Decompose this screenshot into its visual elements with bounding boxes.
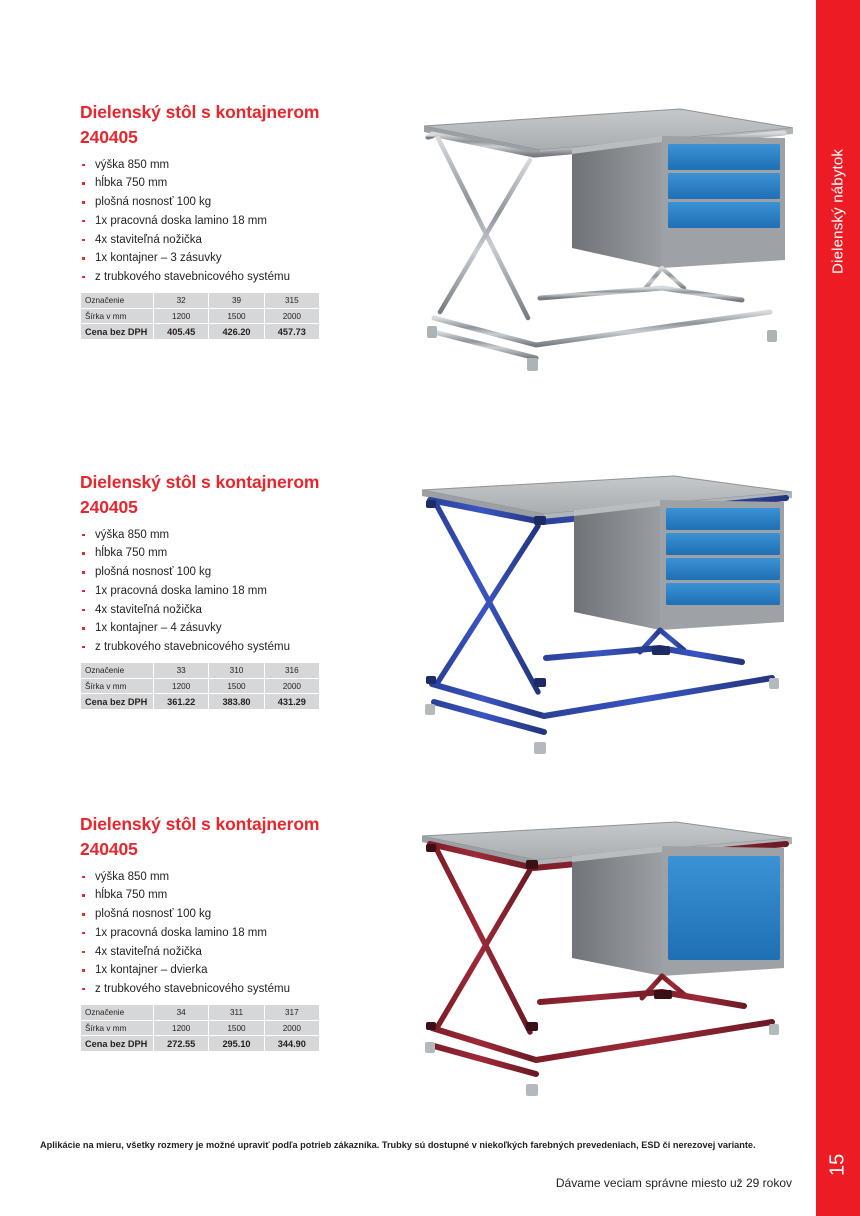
product-title-text-1: Dielenský stôl s kontajnerom [80, 102, 319, 122]
cell-width: 2000 [265, 679, 319, 694]
bullet-dot-icon [82, 257, 85, 260]
catalog-page: Dielenský nábytok 15 Dielenský stôl s ko… [0, 0, 860, 1216]
product-title-text-2: Dielenský stôl s kontajnerom [80, 472, 319, 492]
table-row: Šírka v mm 1200 1500 2000 [81, 1021, 319, 1036]
cell-width: 1500 [209, 309, 263, 324]
feature-text: výška 850 mm [95, 529, 169, 541]
cell-price: 426.20 [209, 324, 263, 339]
product-info-1: Dielenský stôl s kontajnerom 240405 výšk… [80, 100, 410, 340]
feature-item: 4x staviteľná nožička [80, 947, 410, 959]
bullet-dot-icon [82, 627, 85, 630]
bullet-dot-icon [82, 571, 85, 574]
bullet-dot-icon [82, 534, 85, 537]
feature-text: z trubkového stavebnicového systému [95, 641, 290, 653]
bullet-dot-icon [82, 220, 85, 223]
feature-text: z trubkového stavebnicového systému [95, 983, 290, 995]
table-row: Označenie 33 310 316 [81, 663, 319, 678]
bullet-dot-icon [82, 646, 85, 649]
table-row: Cena bez DPH 405.45 426.20 457.73 [81, 324, 319, 339]
product-title-2: Dielenský stôl s kontajnerom 240405 [80, 470, 410, 521]
table-row: Označenie 32 39 315 [81, 293, 319, 308]
row-header-price: Cena bez DPH [81, 1036, 153, 1051]
table-row: Cena bez DPH 361.22 383.80 431.29 [81, 694, 319, 709]
bullet-dot-icon [82, 894, 85, 897]
feature-text: 4x staviteľná nožička [95, 234, 202, 246]
bullet-dot-icon [82, 932, 85, 935]
product-info-3: Dielenský stôl s kontajnerom 240405 výšk… [80, 812, 410, 1052]
cell-designation: 310 [209, 663, 263, 678]
page-number: 15 [816, 1140, 860, 1190]
cell-designation: 33 [154, 663, 208, 678]
product-info-2: Dielenský stôl s kontajnerom 240405 výšk… [80, 470, 410, 710]
cell-designation: 316 [265, 663, 319, 678]
feature-text: 1x kontajner – 4 zásuvky [95, 622, 222, 634]
feature-text: z trubkového stavebnicového systému [95, 271, 290, 283]
feature-item: 4x staviteľná nožička [80, 235, 410, 247]
feature-text: 1x pracovná doska lamino 18 mm [95, 927, 267, 939]
feature-item: 1x pracovná doska lamino 18 mm [80, 216, 410, 228]
product-features-2: výška 850 mm hĺbka 750 mm plošná nosnosť… [80, 530, 410, 654]
feature-text: 4x staviteľná nožička [95, 946, 202, 958]
feature-text: plošná nosnosť 100 kg [95, 566, 211, 578]
cell-width: 1500 [209, 679, 263, 694]
cell-designation: 315 [265, 293, 319, 308]
cell-price: 405.45 [154, 324, 208, 339]
footer-note: Aplikácie na mieru, všetky rozmery je mo… [40, 1140, 802, 1152]
bullet-dot-icon [82, 876, 85, 879]
product-title-1: Dielenský stôl s kontajnerom 240405 [80, 100, 410, 151]
cell-price: 272.55 [154, 1036, 208, 1051]
feature-item: 1x pracovná doska lamino 18 mm [80, 928, 410, 940]
table-row: Cena bez DPH 272.55 295.10 344.90 [81, 1036, 319, 1051]
bullet-dot-icon [82, 201, 85, 204]
feature-text: výška 850 mm [95, 159, 169, 171]
cell-designation: 39 [209, 293, 263, 308]
product-photo-3 [412, 812, 802, 1102]
feature-text: 1x pracovná doska lamino 18 mm [95, 585, 267, 597]
section-tab-label: Dielenský nábytok [816, 96, 860, 326]
bullet-dot-icon [82, 552, 85, 555]
feature-item: 1x kontajner – dvierka [80, 965, 410, 977]
feature-text: výška 850 mm [95, 871, 169, 883]
feature-text: plošná nosnosť 100 kg [95, 196, 211, 208]
spec-table-2: Označenie 33 310 316 Šírka v mm 1200 150… [80, 662, 320, 710]
feature-text: 1x kontajner – dvierka [95, 964, 208, 976]
feature-text: 4x staviteľná nožička [95, 604, 202, 616]
bullet-dot-icon [82, 164, 85, 167]
feature-item: plošná nosnosť 100 kg [80, 567, 410, 579]
bullet-dot-icon [82, 239, 85, 242]
row-header-price: Cena bez DPH [81, 694, 153, 709]
product-code-3: 240405 [80, 837, 410, 862]
table-row: Šírka v mm 1200 1500 2000 [81, 309, 319, 324]
product-features-3: výška 850 mm hĺbka 750 mm plošná nosnosť… [80, 872, 410, 996]
feature-item: výška 850 mm [80, 872, 410, 884]
product-title-text-3: Dielenský stôl s kontajnerom [80, 814, 319, 834]
feature-text: hĺbka 750 mm [95, 889, 167, 901]
feature-text: hĺbka 750 mm [95, 177, 167, 189]
product-block-2: Dielenský stôl s kontajnerom 240405 výšk… [0, 470, 816, 760]
row-header-designation: Označenie [81, 663, 153, 678]
feature-item: 1x kontajner – 4 zásuvky [80, 623, 410, 635]
cell-width: 2000 [265, 1021, 319, 1036]
feature-text: hĺbka 750 mm [95, 547, 167, 559]
bullet-dot-icon [82, 913, 85, 916]
cell-width: 2000 [265, 309, 319, 324]
cell-width: 1200 [154, 1021, 208, 1036]
cell-width: 1500 [209, 1021, 263, 1036]
row-header-width: Šírka v mm [81, 1021, 153, 1036]
row-header-width: Šírka v mm [81, 679, 153, 694]
table-row: Označenie 34 311 317 [81, 1005, 319, 1020]
row-header-designation: Označenie [81, 1005, 153, 1020]
cell-price: 361.22 [154, 694, 208, 709]
feature-item: 1x pracovná doska lamino 18 mm [80, 586, 410, 598]
product-code-2: 240405 [80, 495, 410, 520]
cell-price: 431.29 [265, 694, 319, 709]
product-photo-1 [412, 100, 802, 390]
feature-item: hĺbka 750 mm [80, 890, 410, 902]
cell-designation: 34 [154, 1005, 208, 1020]
product-title-3: Dielenský stôl s kontajnerom 240405 [80, 812, 410, 863]
feature-item: výška 850 mm [80, 160, 410, 172]
cell-width: 1200 [154, 679, 208, 694]
footer-tagline: Dávame veciam správne miesto už 29 rokov [40, 1176, 802, 1190]
feature-text: plošná nosnosť 100 kg [95, 908, 211, 920]
feature-item: z trubkového stavebnicového systému [80, 272, 410, 284]
cell-price: 295.10 [209, 1036, 263, 1051]
cell-designation: 311 [209, 1005, 263, 1020]
spec-table-3: Označenie 34 311 317 Šírka v mm 1200 150… [80, 1004, 320, 1052]
bullet-dot-icon [82, 988, 85, 991]
row-header-width: Šírka v mm [81, 309, 153, 324]
feature-text: 1x kontajner – 3 zásuvky [95, 252, 222, 264]
feature-item: plošná nosnosť 100 kg [80, 197, 410, 209]
feature-text: 1x pracovná doska lamino 18 mm [95, 215, 267, 227]
table-row: Šírka v mm 1200 1500 2000 [81, 679, 319, 694]
feature-item: 4x staviteľná nožička [80, 605, 410, 617]
product-block-1: Dielenský stôl s kontajnerom 240405 výšk… [0, 100, 816, 390]
feature-item: plošná nosnosť 100 kg [80, 909, 410, 921]
spec-table-1: Označenie 32 39 315 Šírka v mm 1200 1500… [80, 292, 320, 340]
cell-price: 344.90 [265, 1036, 319, 1051]
feature-item: výška 850 mm [80, 530, 410, 542]
bullet-dot-icon [82, 182, 85, 185]
bullet-dot-icon [82, 276, 85, 279]
cell-designation: 32 [154, 293, 208, 308]
feature-item: hĺbka 750 mm [80, 548, 410, 560]
section-edge-tab: Dielenský nábytok 15 [816, 0, 860, 1216]
feature-item: z trubkového stavebnicového systému [80, 984, 410, 996]
product-block-3: Dielenský stôl s kontajnerom 240405 výšk… [0, 812, 816, 1102]
bullet-dot-icon [82, 951, 85, 954]
row-header-designation: Označenie [81, 293, 153, 308]
bullet-dot-icon [82, 590, 85, 593]
product-features-1: výška 850 mm hĺbka 750 mm plošná nosnosť… [80, 160, 410, 284]
bullet-dot-icon [82, 609, 85, 612]
product-photo-2 [412, 470, 802, 760]
feature-item: 1x kontajner – 3 zásuvky [80, 253, 410, 265]
feature-item: z trubkového stavebnicového systému [80, 642, 410, 654]
cell-price: 383.80 [209, 694, 263, 709]
product-code-1: 240405 [80, 125, 410, 150]
cell-designation: 317 [265, 1005, 319, 1020]
row-header-price: Cena bez DPH [81, 324, 153, 339]
feature-item: hĺbka 750 mm [80, 178, 410, 190]
bullet-dot-icon [82, 969, 85, 972]
cell-width: 1200 [154, 309, 208, 324]
cell-price: 457.73 [265, 324, 319, 339]
